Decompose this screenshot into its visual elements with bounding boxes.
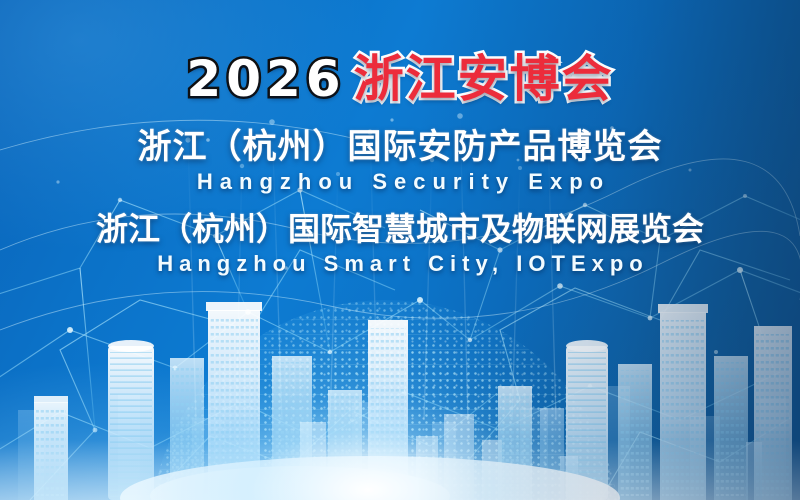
title-year: 2026 bbox=[186, 50, 345, 108]
poster-text-block: 2026浙江安博会 浙江（杭州）国际安防产品博览会 Hangzhou Secur… bbox=[0, 0, 800, 276]
expo-poster: 2026浙江安博会 浙江（杭州）国际安防产品博览会 Hangzhou Secur… bbox=[0, 0, 800, 500]
expo-security-name-cn: 浙江（杭州）国际安防产品博览会 bbox=[0, 128, 800, 166]
expo-smartcity-name-en: Hangzhou Smart City, IOTExpo bbox=[0, 252, 800, 276]
city-skyline-graphic bbox=[0, 290, 800, 500]
expo-security-name-en: Hangzhou Security Expo bbox=[0, 170, 800, 194]
page-title: 2026浙江安博会 bbox=[0, 0, 800, 104]
expo-line-security: 浙江（杭州）国际安防产品博览会 Hangzhou Security Expo bbox=[0, 128, 800, 194]
expo-line-smartcity: 浙江（杭州）国际智慧城市及物联网展览会 Hangzhou Smart City,… bbox=[0, 212, 800, 276]
expo-smartcity-name-cn: 浙江（杭州）国际智慧城市及物联网展览会 bbox=[0, 212, 800, 248]
title-event-name-cn: 浙江安博会 bbox=[354, 51, 614, 107]
